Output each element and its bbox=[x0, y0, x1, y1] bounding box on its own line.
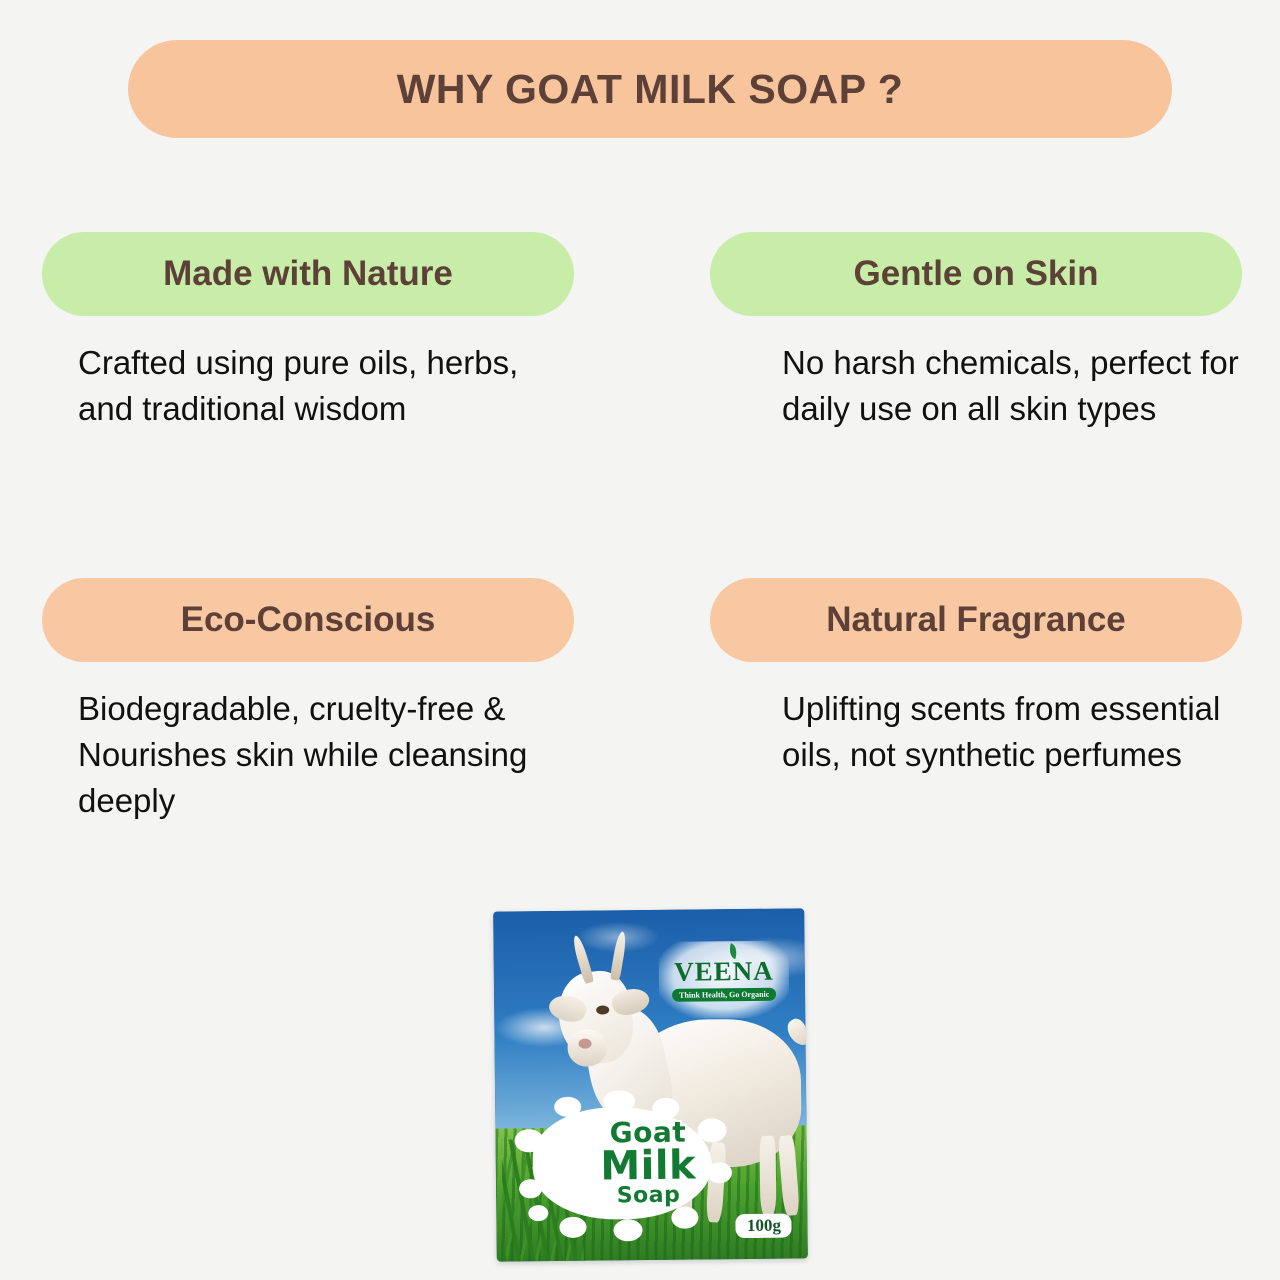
feature-card-natural-fragrance: Natural Fragrance Uplifting scents from … bbox=[710, 578, 1242, 778]
product-package-image: VEENA Think Health, Go Organic Goat Milk… bbox=[495, 910, 806, 1260]
goat-leg bbox=[778, 1135, 800, 1216]
feature-row-bottom: Eco-Conscious Biodegradable, cruelty-fre… bbox=[0, 578, 1280, 908]
feature-pill-gentle-on-skin: Gentle on Skin bbox=[710, 232, 1242, 316]
feature-description: No harsh chemicals, perfect for daily us… bbox=[710, 340, 1242, 432]
feature-label: Gentle on Skin bbox=[853, 254, 1098, 294]
feature-description: Crafted using pure oils, herbs, and trad… bbox=[42, 340, 574, 432]
goat-leg bbox=[759, 1136, 776, 1216]
feature-description: Uplifting scents from essential oils, no… bbox=[710, 686, 1242, 778]
milk-droplet bbox=[528, 1205, 548, 1221]
goat-horn bbox=[610, 930, 628, 980]
milk-droplet bbox=[603, 1090, 635, 1112]
brand-logo: VEENA Think Health, Go Organic bbox=[658, 940, 789, 1018]
product-box: VEENA Think Health, Go Organic Goat Milk… bbox=[493, 908, 808, 1261]
feature-card-made-with-nature: Made with Nature Crafted using pure oils… bbox=[42, 232, 574, 432]
goat-eye bbox=[596, 1005, 609, 1014]
feature-description: Biodegradable, cruelty-free & Nourishes … bbox=[42, 686, 574, 825]
header-pill: WHY GOAT MILK SOAP ? bbox=[128, 40, 1172, 138]
goat-tail bbox=[784, 1016, 808, 1049]
feature-row-top: Made with Nature Crafted using pure oils… bbox=[0, 232, 1280, 562]
milk-droplet bbox=[614, 1219, 643, 1241]
feature-label: Eco-Conscious bbox=[181, 600, 436, 640]
milk-droplet bbox=[672, 1207, 699, 1229]
feature-label: Natural Fragrance bbox=[826, 600, 1126, 640]
brand-tagline: Think Health, Go Organic bbox=[672, 987, 776, 1001]
feature-card-gentle-on-skin: Gentle on Skin No harsh chemicals, perfe… bbox=[710, 232, 1242, 432]
feature-grid: Made with Nature Crafted using pure oils… bbox=[0, 232, 1280, 908]
feature-pill-eco-conscious: Eco-Conscious bbox=[42, 578, 574, 662]
product-wordmark: Goat Milk Soap bbox=[558, 1119, 739, 1207]
feature-card-eco-conscious: Eco-Conscious Biodegradable, cruelty-fre… bbox=[42, 578, 574, 825]
brand-name: VEENA bbox=[674, 957, 774, 985]
page-title: WHY GOAT MILK SOAP ? bbox=[397, 66, 904, 113]
feature-label: Made with Nature bbox=[163, 254, 453, 294]
milk-droplet bbox=[519, 1179, 542, 1198]
milk-droplet bbox=[554, 1096, 581, 1117]
product-name-line-3: Soap bbox=[558, 1184, 739, 1207]
infographic-page: WHY GOAT MILK SOAP ? Made with Nature Cr… bbox=[0, 0, 1280, 1280]
feature-pill-made-with-nature: Made with Nature bbox=[42, 232, 574, 316]
feature-pill-natural-fragrance: Natural Fragrance bbox=[710, 578, 1242, 662]
milk-droplet bbox=[560, 1217, 587, 1238]
weight-badge: 100g bbox=[736, 1214, 792, 1239]
product-name-line-2: Milk bbox=[558, 1146, 739, 1186]
